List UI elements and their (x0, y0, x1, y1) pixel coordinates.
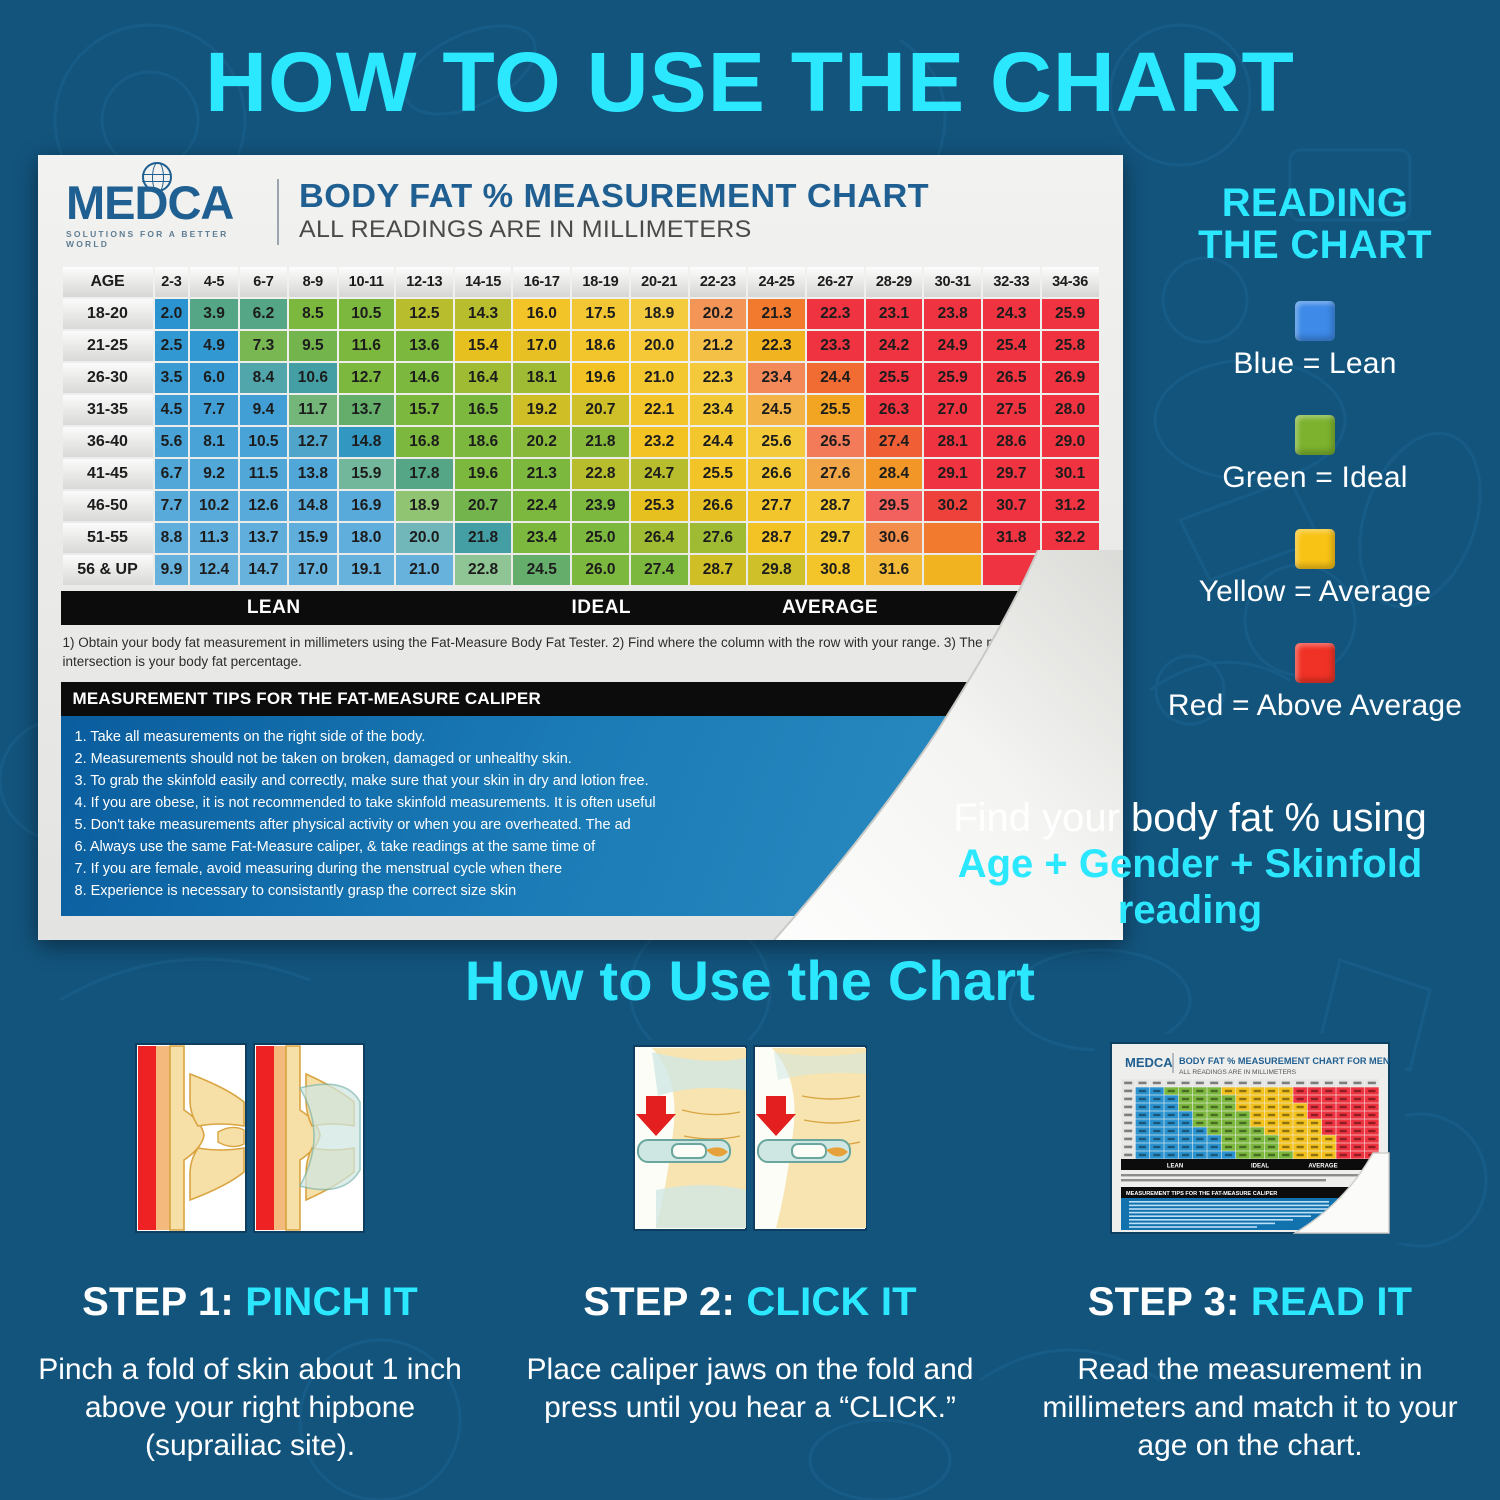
mini-cell-text (1368, 1130, 1375, 1132)
cell: 29.0 (1042, 427, 1099, 457)
table-header-2-3: 2-3 (155, 267, 189, 297)
cell: 31.2 (1042, 491, 1099, 521)
cell: 18.1 (513, 363, 570, 393)
mini-header-text (1124, 1098, 1132, 1101)
step-3: MEDCA BODY FAT % MEASUREMENT CHART FOR M… (1015, 1038, 1485, 1464)
cell: 30.2 (924, 491, 981, 521)
mini-cell-text (1268, 1122, 1275, 1124)
mini-cell-text (1239, 1106, 1246, 1108)
mini-cell-text (1311, 1098, 1318, 1100)
category-average: AVERAGE (716, 597, 945, 619)
step-2-title: STEP 2: CLICK IT (515, 1280, 985, 1325)
mini-cell-text (1311, 1090, 1318, 1092)
mini-cell-text (1196, 1114, 1203, 1116)
mini-cell-text (1297, 1098, 1304, 1100)
mini-header-text (1368, 1082, 1376, 1085)
mini-header-text (1124, 1146, 1132, 1149)
cell: 12.7 (339, 363, 394, 393)
mini-header-text (1167, 1082, 1175, 1085)
legend-item-3: Red = Above Average (1135, 643, 1495, 723)
mini-cell-text (1139, 1090, 1146, 1092)
mini-cell-text (1354, 1106, 1361, 1108)
cell: 13.8 (289, 459, 336, 489)
cell: 14.8 (339, 427, 394, 457)
cell: 17.0 (289, 555, 336, 585)
mini-cell-text (1254, 1090, 1261, 1092)
cell: 24.2 (866, 331, 923, 361)
row-label-36-40: 36-40 (63, 427, 153, 457)
cell: 29.7 (807, 523, 864, 553)
mini-chart-brand: MEDCA (1125, 1055, 1173, 1070)
mini-tip-line (1129, 1212, 1329, 1214)
mini-header-text (1181, 1082, 1189, 1085)
table-header-24-25: 24-25 (748, 267, 805, 297)
cell: 22.4 (513, 491, 570, 521)
cell: 10.2 (190, 491, 237, 521)
mini-cell-text (1254, 1138, 1261, 1140)
find-line-1: Find your body fat % using (880, 795, 1500, 841)
mini-cell-text (1297, 1146, 1304, 1148)
step-2-text: Place caliper jaws on the fold and press… (515, 1351, 985, 1427)
mini-header-text (1282, 1082, 1290, 1085)
mini-cell-text (1340, 1122, 1347, 1124)
cell: 23.4 (690, 395, 747, 425)
cell: 27.7 (748, 491, 805, 521)
cell: 16.9 (339, 491, 394, 521)
cell: 27.4 (866, 427, 923, 457)
mini-cell-text (1282, 1130, 1289, 1132)
cell: 29.7 (983, 459, 1040, 489)
cell: 2.0 (155, 299, 189, 329)
legend-item-1: Green = Ideal (1135, 415, 1495, 495)
mini-cell-text (1254, 1146, 1261, 1148)
cell: 23.8 (924, 299, 981, 329)
legend-swatch-icon (1295, 415, 1335, 455)
cell: 20.0 (396, 523, 453, 553)
cell: 23.9 (572, 491, 629, 521)
mini-cell-text (1368, 1114, 1375, 1116)
cell: 30.1 (1042, 459, 1099, 489)
mini-header-text (1224, 1082, 1232, 1085)
row-label-51-55: 51-55 (63, 523, 153, 553)
cell: 7.3 (240, 331, 287, 361)
table-header-34-36: 34-36 (1042, 267, 1099, 297)
mini-cell-text (1311, 1138, 1318, 1140)
mini-cell-text (1182, 1090, 1189, 1092)
cell: 29.1 (924, 459, 981, 489)
mini-cell-text (1153, 1114, 1160, 1116)
step-2: STEP 2: CLICK IT Place caliper jaws on t… (515, 1038, 985, 1427)
row-label-18-20: 18-20 (63, 299, 153, 329)
category-bar: LEAN IDEAL AVERAGE (61, 591, 1101, 625)
mini-cell-text (1282, 1154, 1289, 1156)
cell: 25.3 (631, 491, 688, 521)
row-label-21-25: 21-25 (63, 331, 153, 361)
legend-label: Blue = Lean (1135, 347, 1495, 381)
table-header-28-29: 28-29 (866, 267, 923, 297)
cell: 22.8 (455, 555, 512, 585)
cell: 16.8 (396, 427, 453, 457)
cell: 26.6 (690, 491, 747, 521)
cell: 22.1 (631, 395, 688, 425)
mini-header-text (1196, 1082, 1204, 1085)
mini-cell-text (1340, 1090, 1347, 1092)
mini-cell-text (1225, 1106, 1232, 1108)
step-3-title-prefix: STEP 3: (1088, 1280, 1251, 1324)
cell: 21.2 (690, 331, 747, 361)
cell: 28.7 (690, 555, 747, 585)
cell: 26.3 (866, 395, 923, 425)
cell: 28.4 (866, 459, 923, 489)
tip-item: 1. Take all measurements on the right si… (75, 726, 1087, 748)
mini-cell-text (1239, 1146, 1246, 1148)
cell: 25.6 (748, 427, 805, 457)
cell: 12.4 (190, 555, 237, 585)
cell: 30.7 (983, 491, 1040, 521)
mini-header-text (1239, 1082, 1247, 1085)
cell: 28.1 (924, 427, 981, 457)
cell: 26.5 (983, 363, 1040, 393)
mini-header-text (1124, 1122, 1132, 1125)
cell: 10.5 (240, 427, 287, 457)
mini-cell-text (1153, 1138, 1160, 1140)
cell: 18.0 (339, 523, 394, 553)
mini-cell-text (1297, 1122, 1304, 1124)
mini-cell-text (1368, 1122, 1375, 1124)
cell: 25.5 (807, 395, 864, 425)
cell: 23.4 (513, 523, 570, 553)
cell: 25.0 (572, 523, 629, 553)
mini-tip-line (1129, 1223, 1275, 1225)
mini-cell-text (1311, 1114, 1318, 1116)
legend-label: Yellow = Average (1135, 575, 1495, 609)
step-1-title-accent: PINCH IT (245, 1280, 418, 1324)
legend-swatch-icon (1295, 301, 1335, 341)
mini-cell-text (1196, 1146, 1203, 1148)
cell: 24.5 (748, 395, 805, 425)
step-3-image: MEDCA BODY FAT % MEASUREMENT CHART FOR M… (1015, 1038, 1485, 1238)
table-header-16-17: 16-17 (513, 267, 570, 297)
mini-cell-text (1182, 1098, 1189, 1100)
step-3-title-accent: READ IT (1251, 1280, 1412, 1324)
cell: 16.4 (455, 363, 512, 393)
mini-cell-text (1340, 1106, 1347, 1108)
cell: 26.9 (1042, 363, 1099, 393)
cell: 20.0 (631, 331, 688, 361)
mini-chart-thumbnail: MEDCA BODY FAT % MEASUREMENT CHART FOR M… (1095, 1033, 1405, 1243)
cell: 9.2 (190, 459, 237, 489)
table-header-30-31: 30-31 (924, 267, 981, 297)
cell: 23.3 (807, 331, 864, 361)
medca-logo: MEDCA SOLUTIONS FOR A BETTER WORLD (66, 177, 271, 249)
mini-header-text (1325, 1082, 1333, 1085)
cell (983, 555, 1040, 585)
mini-cell-text (1211, 1114, 1218, 1116)
mini-cell-text (1225, 1130, 1232, 1132)
step-3-title: STEP 3: READ IT (1015, 1280, 1485, 1325)
mini-cell-text (1254, 1130, 1261, 1132)
cell: 31.6 (866, 555, 923, 585)
cell: 27.6 (690, 523, 747, 553)
mini-cell-text (1282, 1106, 1289, 1108)
cell: 17.5 (572, 299, 629, 329)
cell: 15.4 (455, 331, 512, 361)
mini-cell-text (1239, 1114, 1246, 1116)
cell: 20.2 (690, 299, 747, 329)
mini-cell-text (1225, 1154, 1232, 1156)
mini-cell-text (1340, 1098, 1347, 1100)
cell: 15.7 (396, 395, 453, 425)
mini-cell-text (1239, 1090, 1246, 1092)
mini-cell-text (1297, 1138, 1304, 1140)
mini-header-text (1339, 1082, 1347, 1085)
mini-tips-heading: MEASUREMENT TIPS FOR THE FAT-MEASURE CAL… (1126, 1191, 1277, 1197)
find-body-fat-callout: Find your body fat % using Age + Gender … (880, 795, 1500, 933)
poster-title-group: BODY FAT % MEASUREMENT CHART ALL READING… (299, 177, 905, 244)
table-row: 36-405.68.110.512.714.816.818.620.221.82… (63, 427, 1099, 457)
cell: 29.8 (748, 555, 805, 585)
chart-instructions: 1) Obtain your body fat measurement in m… (61, 631, 1101, 674)
cell: 17.8 (396, 459, 453, 489)
mini-cell-text (1311, 1122, 1318, 1124)
legend-item-0: Blue = Lean (1135, 301, 1495, 381)
mini-cell-text (1354, 1154, 1361, 1156)
cell: 13.6 (396, 331, 453, 361)
table-row: 21-252.54.97.39.511.613.615.417.018.620.… (63, 331, 1099, 361)
cell: 24.4 (807, 363, 864, 393)
mini-cell-text (1153, 1146, 1160, 1148)
mini-category-ideal: IDEAL (1251, 1164, 1269, 1170)
find-line-2: Age + Gender + Skinfold reading (880, 841, 1500, 933)
mini-cell-text (1311, 1130, 1318, 1132)
table-header-6-7: 6-7 (240, 267, 287, 297)
cell: 30.8 (807, 555, 864, 585)
table-row: 26-303.56.08.410.612.714.616.418.119.621… (63, 363, 1099, 393)
tip-item: 3. To grab the skinfold easily and corre… (75, 770, 1087, 792)
mini-cell-text (1153, 1098, 1160, 1100)
mini-header-text (1124, 1090, 1132, 1093)
mini-cell-text (1340, 1146, 1347, 1148)
mini-cell-text (1211, 1098, 1218, 1100)
table-header-22-23: 22-23 (690, 267, 747, 297)
mini-cell-text (1340, 1154, 1347, 1156)
mini-cell-text (1196, 1098, 1203, 1100)
cell: 10.5 (339, 299, 394, 329)
mini-cell-text (1196, 1106, 1203, 1108)
cell: 21.3 (748, 299, 805, 329)
mini-cell-text (1268, 1138, 1275, 1140)
step-1-text: Pinch a fold of skin about 1 inch above … (15, 1351, 485, 1464)
mini-header-text (1296, 1082, 1304, 1085)
mini-cell-text (1153, 1122, 1160, 1124)
cell: 27.5 (983, 395, 1040, 425)
cell: 26.5 (807, 427, 864, 457)
cell: 14.8 (289, 491, 336, 521)
mini-cell-text (1325, 1146, 1332, 1148)
mini-cell-text (1268, 1106, 1275, 1108)
mini-cell-text (1354, 1098, 1361, 1100)
row-label-26-30: 26-30 (63, 363, 153, 393)
poster-title: BODY FAT % MEASUREMENT CHART (299, 179, 929, 214)
mini-tip-line (1129, 1226, 1257, 1228)
mini-cell-text (1168, 1122, 1175, 1124)
mini-cell-text (1311, 1106, 1318, 1108)
table-row: 18-202.03.96.28.510.512.514.316.017.518.… (63, 299, 1099, 329)
cell: 29.5 (866, 491, 923, 521)
cell: 7.7 (190, 395, 237, 425)
cell: 21.8 (572, 427, 629, 457)
cell: 18.6 (455, 427, 512, 457)
cell: 18.9 (396, 491, 453, 521)
mini-chart-title: BODY FAT % MEASUREMENT CHART FOR MEN (1179, 1056, 1390, 1066)
cell: 33.3 (1042, 555, 1099, 585)
table-header-26-27: 26-27 (807, 267, 864, 297)
table-row: 56 & UP9.912.414.717.019.121.022.824.526… (63, 555, 1099, 585)
cell: 24.7 (631, 459, 688, 489)
step-1-image (15, 1038, 485, 1238)
tip-item: 2. Measurements should not be taken on b… (75, 748, 1087, 770)
table-header-row: AGE2-34-56-78-910-1112-1314-1516-1718-19… (63, 267, 1099, 297)
mini-cell-text (1311, 1146, 1318, 1148)
cell: 4.9 (190, 331, 237, 361)
mini-tip-line (1129, 1215, 1311, 1217)
cell: 22.3 (807, 299, 864, 329)
page-title: HOW TO USE THE CHART (0, 0, 1500, 124)
mini-header-text (1210, 1082, 1218, 1085)
mini-cell-text (1196, 1138, 1203, 1140)
mini-cell-text (1139, 1122, 1146, 1124)
mini-cell-text (1211, 1122, 1218, 1124)
cell: 21.3 (513, 459, 570, 489)
cell: 25.5 (690, 459, 747, 489)
step-1: STEP 1: PINCH IT Pinch a fold of skin ab… (15, 1038, 485, 1464)
mini-cell-text (1239, 1130, 1246, 1132)
mini-cell-text (1354, 1146, 1361, 1148)
mini-cell-text (1268, 1130, 1275, 1132)
legend-title: READING THE CHART (1135, 182, 1495, 267)
mini-cell-text (1297, 1106, 1304, 1108)
cell: 31.8 (983, 523, 1040, 553)
mini-cell-text (1239, 1098, 1246, 1100)
mini-cell-text (1225, 1090, 1232, 1092)
mini-cell-text (1354, 1122, 1361, 1124)
mini-cell-text (1340, 1130, 1347, 1132)
table-header-8-9: 8-9 (289, 267, 336, 297)
legend-label: Green = Ideal (1135, 461, 1495, 495)
mini-cell-text (1354, 1090, 1361, 1092)
cell: 25.4 (983, 331, 1040, 361)
cell: 26.6 (748, 459, 805, 489)
table-header-18-19: 18-19 (572, 267, 629, 297)
mini-cell-text (1168, 1098, 1175, 1100)
table-row: 31-354.57.79.411.713.715.716.519.220.722… (63, 395, 1099, 425)
cell: 14.7 (240, 555, 287, 585)
table-header-20-21: 20-21 (631, 267, 688, 297)
cell: 20.7 (572, 395, 629, 425)
cell: 23.2 (631, 427, 688, 457)
mini-cell-text (1254, 1122, 1261, 1124)
cell: 13.7 (339, 395, 394, 425)
table-header-10-11: 10-11 (339, 267, 394, 297)
cell: 14.3 (455, 299, 512, 329)
cell: 28.6 (983, 427, 1040, 457)
steps-row: STEP 1: PINCH IT Pinch a fold of skin ab… (0, 1038, 1500, 1464)
mini-cell-text (1182, 1146, 1189, 1148)
mini-cell-text (1225, 1098, 1232, 1100)
mini-cell-text (1282, 1138, 1289, 1140)
mini-tip-line (1129, 1219, 1293, 1221)
cell: 8.8 (155, 523, 189, 553)
mini-header-text (1124, 1106, 1132, 1109)
mini-cell-text (1325, 1154, 1332, 1156)
cell: 3.9 (190, 299, 237, 329)
mini-header-text (1124, 1082, 1132, 1085)
mini-cell-text (1139, 1098, 1146, 1100)
cell: 24.4 (690, 427, 747, 457)
legend-items: Blue = LeanGreen = IdealYellow = Average… (1135, 301, 1495, 723)
mini-chart-subtitle: ALL READINGS ARE IN MILLIMETERS (1179, 1069, 1297, 1076)
tips-heading: MEASUREMENT TIPS FOR THE FAT-MEASURE CAL… (61, 682, 1101, 716)
mini-cell-text (1297, 1090, 1304, 1092)
cell: 9.5 (289, 331, 336, 361)
cell: 15.9 (339, 459, 394, 489)
step-3-text: Read the measurement in millimeters and … (1015, 1351, 1485, 1464)
mini-cell-text (1325, 1106, 1332, 1108)
cell: 12.7 (289, 427, 336, 457)
cell: 6.7 (155, 459, 189, 489)
mini-header-text (1124, 1154, 1132, 1157)
mini-cell-text (1182, 1106, 1189, 1108)
cell: 11.6 (339, 331, 394, 361)
mini-cell-text (1168, 1154, 1175, 1156)
mini-cell-text (1268, 1090, 1275, 1092)
mini-cell-text (1211, 1090, 1218, 1092)
cell: 3.5 (155, 363, 189, 393)
category-ideal: IDEAL (487, 597, 716, 619)
mini-header-text (1310, 1082, 1318, 1085)
cell: 11.7 (289, 395, 336, 425)
category-lean: LEAN (61, 597, 487, 619)
mini-cell-text (1168, 1114, 1175, 1116)
mini-cell-text (1153, 1130, 1160, 1132)
cell: 28.7 (807, 491, 864, 521)
mini-cell-text (1297, 1114, 1304, 1116)
mini-cell-text (1182, 1130, 1189, 1132)
mini-cell-text (1211, 1130, 1218, 1132)
skinfold-pinch-diagram (132, 1040, 368, 1236)
mini-cell-text (1325, 1090, 1332, 1092)
table-row: 46-507.710.212.614.816.918.920.722.423.9… (63, 491, 1099, 521)
cell: 9.9 (155, 555, 189, 585)
cell: 28.0 (1042, 395, 1099, 425)
cell: 25.5 (866, 363, 923, 393)
step-2-title-accent: CLICK IT (746, 1280, 916, 1324)
legend-swatch-icon (1295, 529, 1335, 569)
mini-cell-text (1196, 1122, 1203, 1124)
mini-cell-text (1225, 1114, 1232, 1116)
cell: 6.0 (190, 363, 237, 393)
cell: 23.4 (748, 363, 805, 393)
mini-cell-text (1282, 1122, 1289, 1124)
cell: 17.0 (513, 331, 570, 361)
table-header-age: AGE (63, 267, 153, 297)
mini-cell-text (1297, 1130, 1304, 1132)
mini-header-text (1153, 1082, 1161, 1085)
cell: 11.5 (240, 459, 287, 489)
cell: 24.5 (513, 555, 570, 585)
cell: 19.2 (513, 395, 570, 425)
mini-cell-text (1368, 1098, 1375, 1100)
